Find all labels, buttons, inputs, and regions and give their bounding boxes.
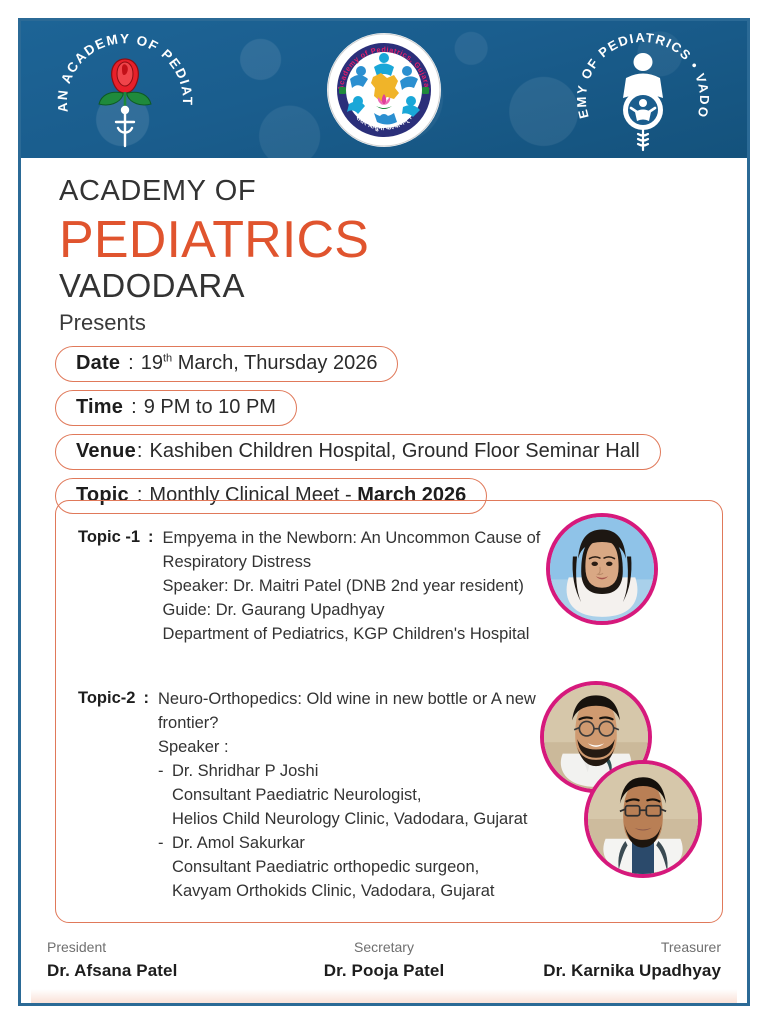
officer-president-role: President [47,937,272,958]
topic-2-line-1: Neuro-Orthopedics: Old wine in new bottl… [158,688,558,712]
date-value: 19th March, Thursday 2026 [136,352,378,375]
officer-president-name: Dr. Afsana Patel [47,958,272,984]
topic-2-speaker-2-name-row: - Dr. Amol Sakurkar [158,832,558,856]
office-bearers: President Dr. Afsana Patel Secretary Dr.… [31,933,737,984]
venue-value: Kashiben Children Hospital, Ground Floor… [144,440,639,463]
academy-of-pediatrics-vadodara-logo: ACADEMY OF PEDIATRICS • VADODARA [563,21,723,158]
topic-2-row: Topic-2 : Neuro-Orthopedics: Old wine in… [78,688,700,903]
topic-2-speaker-1-detail-1: Consultant Paediatric Neurologist, [158,784,558,808]
topic-2-colon: : [135,688,149,708]
topic-2-speaker-1-name-row: - Dr. Shridhar P Joshi [158,760,558,784]
date-day: 19 [141,352,163,374]
topic-2-speaker-2-detail-2: Kavyam Orthokids Clinic, Vadodara, Gujar… [158,880,558,904]
title-block: ACADEMY OF PEDIATRICS VADODARA Presents [43,176,725,336]
event-info-list: Date : 19th March, Thursday 2026 Time : … [43,346,725,514]
title-pediatrics: PEDIATRICS [59,211,725,269]
officer-treasurer-name: Dr. Karnika Upadhyay [496,958,721,984]
officer-treasurer-role: Treasurer [496,937,721,958]
poster-body: ACADEMY OF PEDIATRICS VADODARA Presents … [21,158,747,923]
title-vadodara: VADODARA [59,268,725,304]
date-separator: : [120,352,136,375]
topic-2-label: Topic-2 [78,688,135,708]
topic-2-speaker-1-dash: - [158,760,172,784]
officer-secretary: Secretary Dr. Pooja Patel [272,937,497,984]
topic-2-lines: Neuro-Orthopedics: Old wine in new bottl… [149,688,558,903]
officer-treasurer: Treasurer Dr. Karnika Upadhyay [496,937,721,984]
topic-1-line-5: Department of Pediatrics, KGP Children's… [163,623,563,647]
venue-pill: Venue : Kashiben Children Hospital, Grou… [55,434,661,470]
venue-label: Venue [76,440,136,463]
date-pill: Date : 19th March, Thursday 2026 [55,346,398,382]
time-separator: : [123,396,139,419]
title-academy-of: ACADEMY OF [59,176,725,207]
title-presents: Presents [59,310,725,336]
date-rest: March, Thursday 2026 [172,352,377,374]
academy-of-pediatrics-gujarat-logo: Academy of Pediatrics, Gujarat शरीरं शिश… [319,21,449,158]
poster-frame: INDIAN ACADEMY OF PEDIATRICS [18,18,750,1006]
topic-1-line-3: Speaker: Dr. Maitri Patel (DNB 2nd year … [163,575,563,599]
topic-2-speaker-2-name: Dr. Amol Sakurkar [172,832,558,856]
header-band: INDIAN ACADEMY OF PEDIATRICS [21,21,747,158]
officer-secretary-name: Dr. Pooja Patel [272,958,497,984]
topic-2-speaker-2-dash: - [158,832,172,856]
time-pill: Time : 9 PM to 10 PM [55,390,297,426]
topic-2-speaker-1-name: Dr. Shridhar P Joshi [172,760,558,784]
footer: President Dr. Afsana Patel Secretary Dr.… [21,923,747,1006]
topic-1-line-1: Empyema in the Newborn: An Uncommon Caus… [163,527,563,551]
time-value: 9 PM to 10 PM [139,396,276,419]
topic-1-line-4: Guide: Dr. Gaurang Upadhyay [163,599,563,623]
topic-1-line-2: Respiratory Distress [163,551,563,575]
topics-section: Topic -1 : Empyema in the Newborn: An Un… [43,500,725,923]
topic-2-speaker-2-detail-1: Consultant Paediatric orthopedic surgeon… [158,856,558,880]
indian-academy-of-pediatrics-logo: INDIAN ACADEMY OF PEDIATRICS [45,21,205,158]
topic-1-row: Topic -1 : Empyema in the Newborn: An Un… [78,527,700,647]
topic-1-colon: : [140,527,154,547]
topics-box: Topic -1 : Empyema in the Newborn: An Un… [55,500,723,923]
time-label: Time [76,396,123,419]
topic-1-lines: Empyema in the Newborn: An Uncommon Caus… [154,527,563,647]
footer-orange-gradient-bar [31,989,737,1006]
topic-2-line-2: frontier? [158,712,558,736]
officer-president: President Dr. Afsana Patel [47,937,272,984]
poster: INDIAN ACADEMY OF PEDIATRICS [0,0,768,1024]
date-ordinal: th [163,352,172,364]
officer-secretary-role: Secretary [272,937,497,958]
venue-separator: : [136,440,145,463]
date-label: Date [76,352,120,375]
topic-2-speaker-1-detail-2: Helios Child Neurology Clinic, Vadodara,… [158,808,558,832]
topic-2-line-3: Speaker : [158,736,558,760]
topic-1-label: Topic -1 [78,527,140,547]
